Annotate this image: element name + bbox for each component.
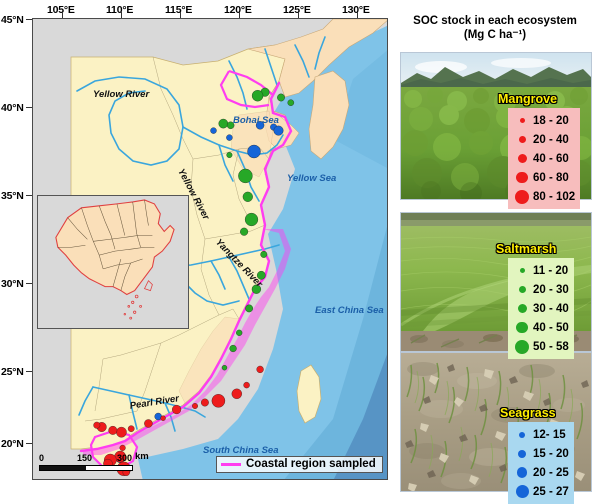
coastal-legend-label: Coastal region sampled [246,458,376,470]
scale-tick-2: 300 [117,453,132,463]
legend-range-label: 20 - 25 [533,467,569,479]
size-class-dot [515,340,529,354]
size-class-dot [518,154,527,163]
sample-point[interactable] [109,426,118,435]
sample-point[interactable] [201,399,209,407]
legend-row: 15 - 20 [511,444,569,463]
coastal-line-swatch [221,463,241,466]
label-yellow-sea: Yellow Sea [287,173,336,184]
legend-dot-swatch [511,340,533,354]
sample-point[interactable] [116,427,126,437]
legend-dot-swatch [511,154,533,163]
y-axis-label-3: 30°N [1,278,24,290]
legend-range-label: 11 - 20 [533,265,568,277]
panel-title: SOC stock in each ecosystem (Mg C ha⁻¹) [390,14,600,42]
sample-point[interactable] [94,422,101,429]
legend-dot-swatch [511,432,533,438]
legend-dot-swatch [511,268,533,273]
x-axis-label-3: 120°E [224,4,252,16]
label-east-china-sea: East China Sea [315,305,384,316]
size-class-dot [520,268,525,273]
size-class-dot [519,136,526,143]
ecosystem-name-seagrass: Seagrass [500,406,556,420]
sample-point[interactable] [236,330,242,336]
size-class-dot [520,118,525,123]
legend-row: 12- 15 [511,425,569,444]
legend-dot-swatch [511,485,533,498]
y-axis-label-0: 45°N [1,14,24,26]
sample-point[interactable] [227,152,233,158]
legend-range-label: 18 - 20 [533,115,569,127]
legend-range-label: 15 - 20 [533,448,569,460]
sample-point[interactable] [230,345,237,352]
legend-row: 40 - 50 [511,318,569,337]
seagrass-legend: 12- 1515 - 2020 - 2525 - 27 [508,422,574,504]
sample-point[interactable] [232,389,242,399]
sample-point[interactable] [288,100,294,106]
x-axis-label-1: 110°E [106,4,133,16]
ecosystem-name-saltmarsh: Saltmarsh [496,242,556,256]
map-panel: 105°E 110°E 115°E 120°E 125°E 130°E 45°N… [0,0,390,498]
legend-row: 20 - 30 [511,280,569,299]
label-south-china-sea: South China Sea [203,445,278,456]
legend-range-label: 20 - 30 [533,284,569,296]
size-class-dot [516,172,528,184]
sample-point[interactable] [243,192,253,202]
panel-title-line1: SOC stock in each ecosystem [390,14,600,28]
legend-dot-swatch [511,286,533,293]
legend-range-label: 40 - 50 [533,322,569,334]
label-yellow-river-1: Yellow River [93,89,149,100]
size-class-dot [517,467,528,478]
legend-range-label: 12- 15 [533,429,566,441]
legend-range-label: 25 - 27 [533,486,569,498]
sample-point[interactable] [240,228,248,236]
sample-point[interactable] [128,426,134,432]
sample-point[interactable] [172,405,181,414]
inset-geometry [38,196,188,328]
sample-point[interactable] [245,213,258,226]
sample-point[interactable] [257,366,264,373]
legend-row: 50 - 58 [511,337,569,356]
legend-dot-swatch [511,304,533,313]
legend-range-label: 40 - 60 [533,153,569,165]
sample-point[interactable] [144,419,152,427]
size-class-dot [516,485,529,498]
legend-row: 25 - 27 [511,482,569,501]
legend-dot-swatch [511,172,533,184]
sample-point[interactable] [192,403,198,409]
coastal-region-legend: Coastal region sampled [216,456,383,473]
y-axis-label-4: 25°N [1,366,24,378]
label-bohai-sea: Bohai Sea [233,115,279,126]
sample-point[interactable] [248,145,261,158]
legend-range-label: 20 - 40 [533,134,569,146]
size-class-dot [519,286,526,293]
sample-point[interactable] [222,365,227,370]
y-axis-label-2: 35°N [1,190,24,202]
x-axis-label-0: 105°E [47,4,75,16]
legend-range-label: 60 - 80 [533,172,569,184]
map-canvas[interactable]: Yellow River Yellow River Yangtze River … [32,18,388,480]
sample-point[interactable] [219,119,228,128]
mangrove-legend: 18 - 2020 - 4040 - 6060 - 8080 - 102 [508,108,580,209]
legend-row: 18 - 20 [511,111,575,130]
legend-row: 11 - 20 [511,261,569,280]
sample-point[interactable] [120,445,126,451]
sample-point[interactable] [261,251,268,258]
scale-tick-0: 0 [39,453,44,463]
sample-point[interactable] [252,90,263,101]
size-class-dot [515,190,529,204]
sample-point[interactable] [212,394,225,407]
sample-point[interactable] [244,382,250,388]
legend-row: 30 - 40 [511,299,569,318]
legend-dot-swatch [511,450,533,458]
panel-title-line2: (Mg C ha⁻¹) [390,28,600,42]
ecosystem-legend-panel: SOC stock in each ecosystem (Mg C ha⁻¹) [390,0,600,498]
legend-range-label: 80 - 102 [533,191,575,203]
ecosystem-name-mangrove: Mangrove [498,92,557,106]
scale-unit: km [135,451,149,462]
y-axis-label-1: 40°N [1,102,24,114]
sample-point[interactable] [238,169,252,183]
legend-row: 60 - 80 [511,168,575,187]
sample-point[interactable] [274,126,284,136]
legend-range-label: 30 - 40 [533,303,569,315]
sample-point[interactable] [226,135,232,141]
legend-row: 80 - 102 [511,187,575,206]
sample-point[interactable] [277,94,284,101]
legend-row: 20 - 40 [511,130,575,149]
legend-dot-swatch [511,322,533,334]
sample-point[interactable] [245,305,252,312]
scale-bar: 0 150 300 km [39,453,147,471]
x-axis-label-2: 115°E [165,4,192,16]
legend-dot-swatch [511,467,533,478]
legend-dot-swatch [511,136,533,143]
sample-point[interactable] [161,416,166,421]
legend-range-label: 50 - 58 [533,341,569,353]
size-class-dot [516,322,528,334]
figure-root: 105°E 110°E 115°E 120°E 125°E 130°E 45°N… [0,0,600,498]
y-axis-label-5: 20°N [1,438,24,450]
sample-point[interactable] [211,128,217,134]
size-class-dot [519,432,525,438]
size-class-dot [518,304,527,313]
inset-map-china[interactable] [37,195,189,329]
legend-row: 40 - 60 [511,149,575,168]
scale-tick-1: 150 [77,453,92,463]
size-class-dot [518,450,526,458]
legend-dot-swatch [511,118,533,123]
x-axis-label-5: 130°E [342,4,370,16]
legend-dot-swatch [511,190,533,204]
legend-row: 20 - 25 [511,463,569,482]
saltmarsh-legend: 11 - 2020 - 3030 - 4040 - 5050 - 58 [508,258,574,359]
x-axis-label-4: 125°E [283,4,311,16]
